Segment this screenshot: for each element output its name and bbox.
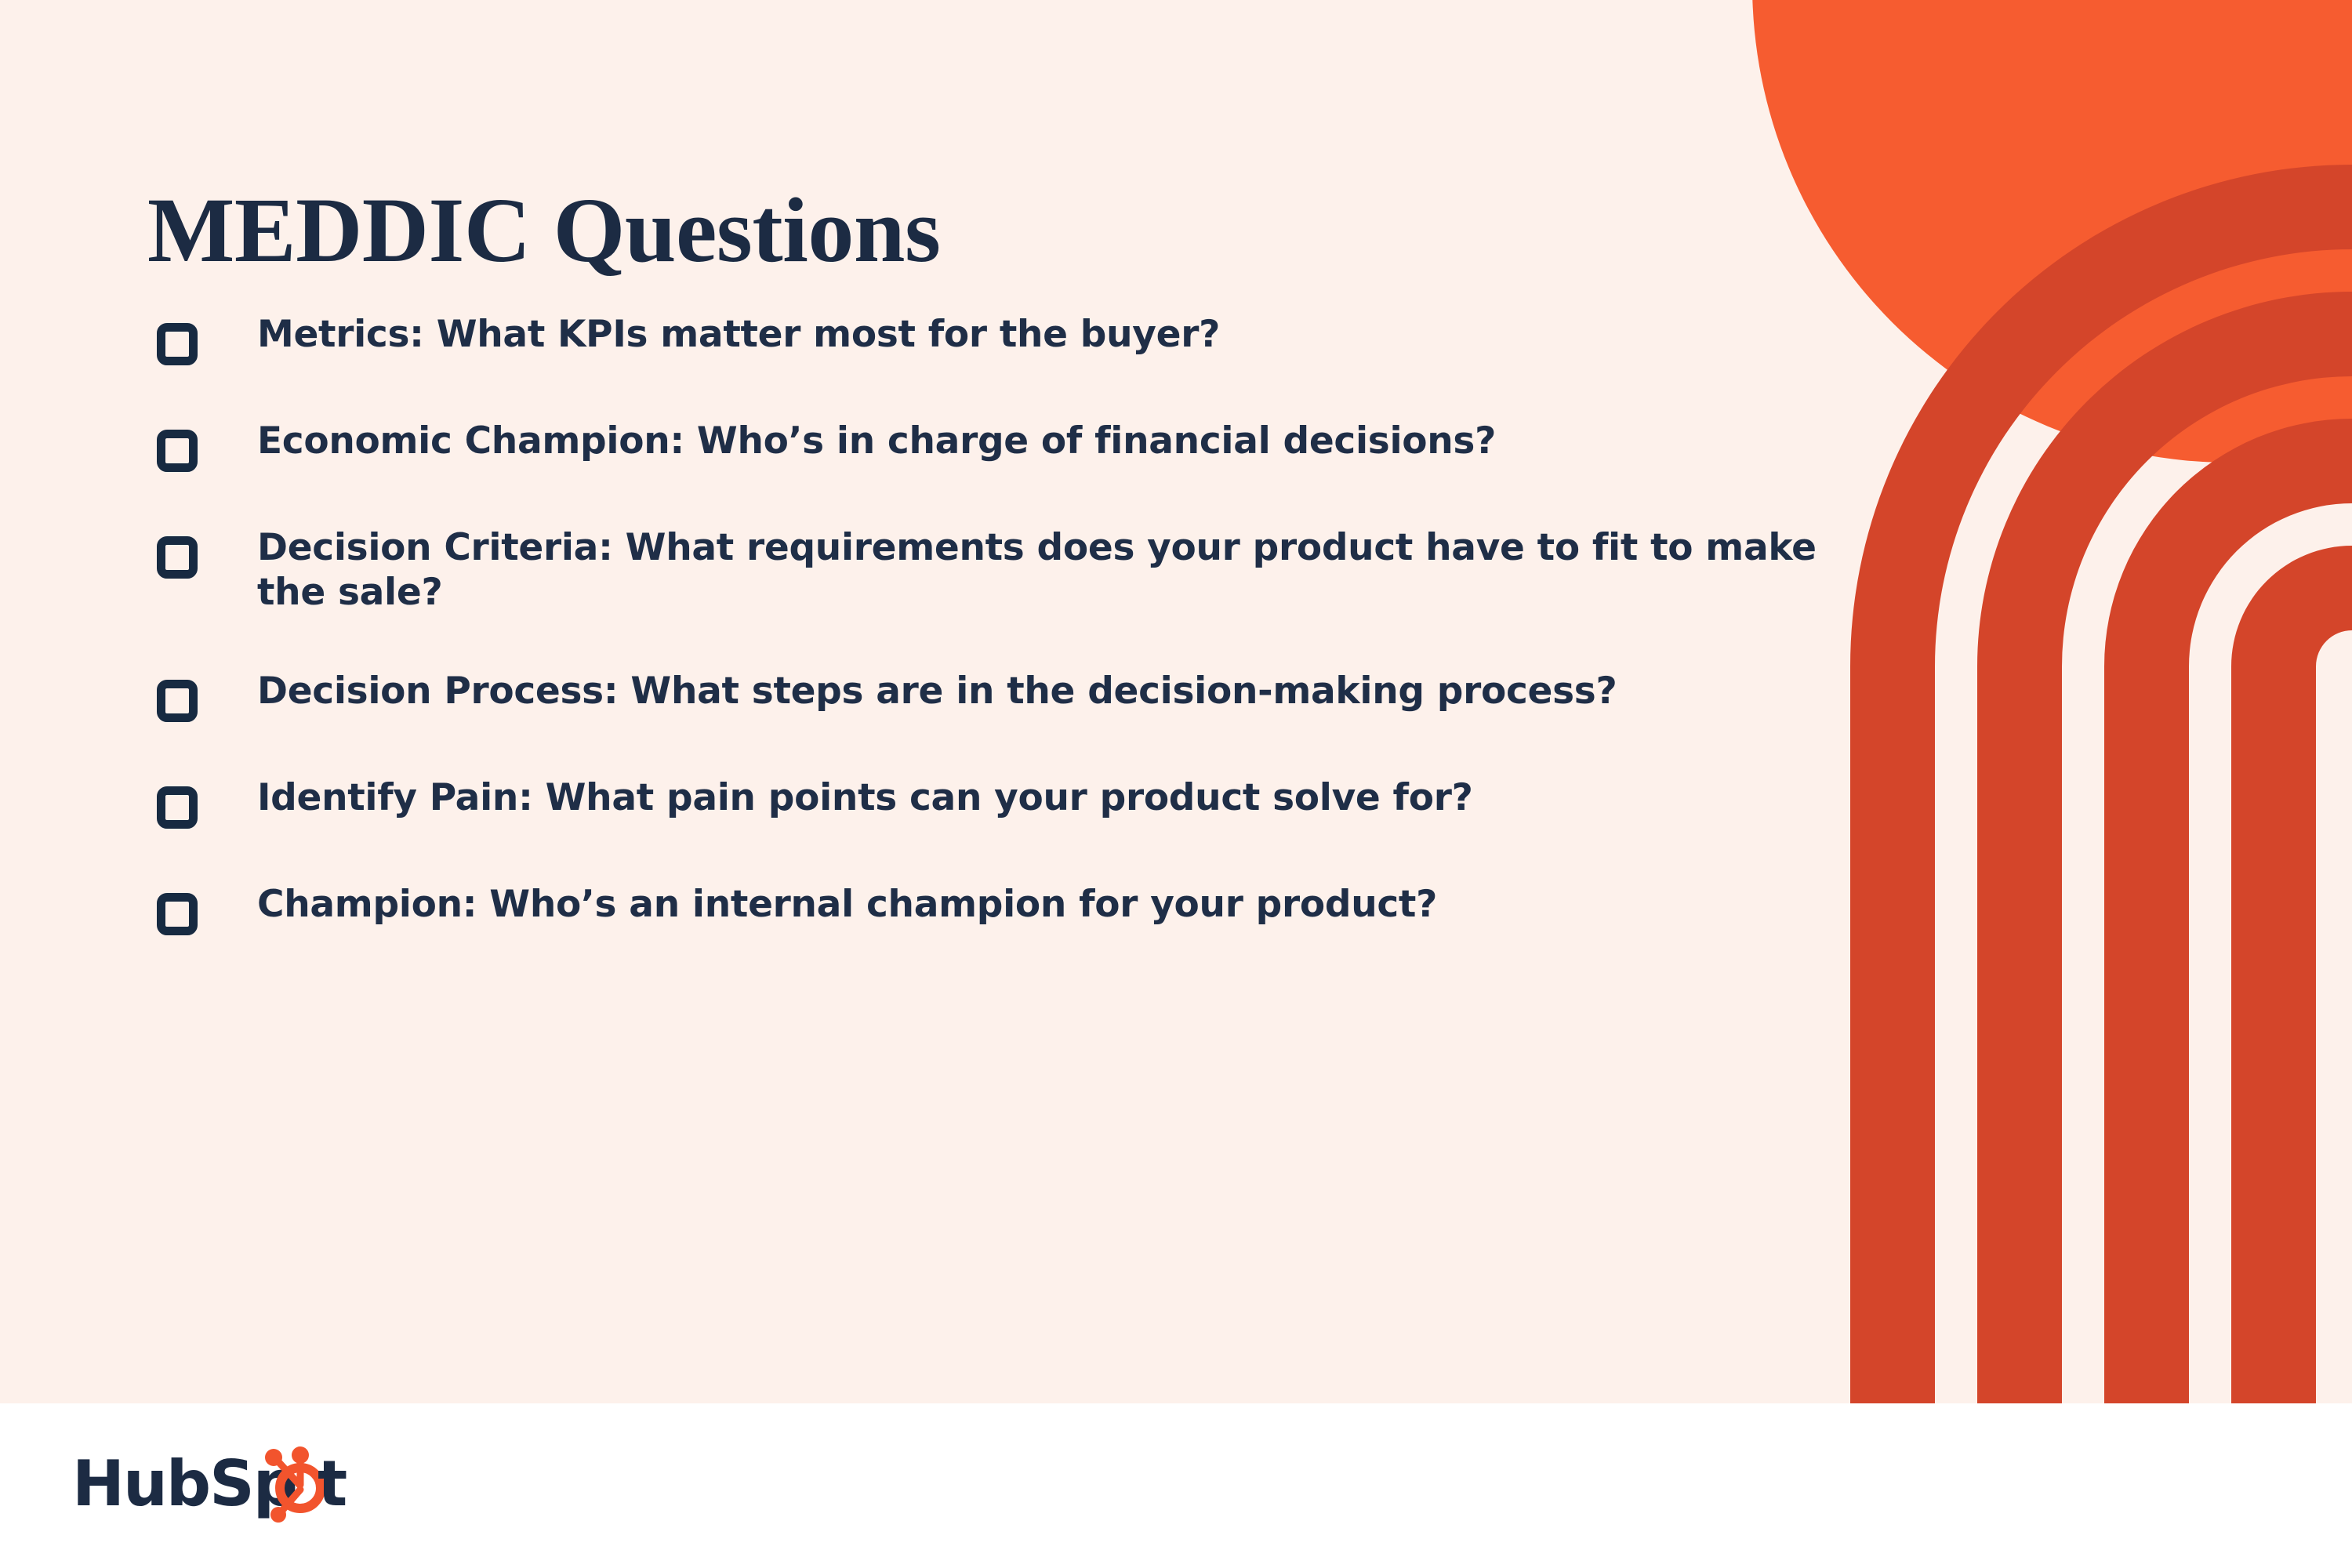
list-item[interactable]: Decision Criteria: What requirements doe… <box>157 525 1850 615</box>
footer-bar: HubSp t <box>0 1403 2352 1568</box>
list-item[interactable]: Champion: Who’s an internal champion for… <box>157 882 1850 935</box>
slide-canvas: MEDDIC Questions Metrics: What KPIs matt… <box>0 0 2352 1568</box>
checkbox-icon[interactable] <box>157 893 198 935</box>
list-item-label: Metrics: What KPIs matter most for the b… <box>257 312 1841 357</box>
checkbox-icon[interactable] <box>157 536 198 579</box>
slide-content: MEDDIC Questions Metrics: What KPIs matt… <box>0 0 2352 1403</box>
hubspot-logo[interactable]: HubSp t <box>72 1444 348 1526</box>
logo-wordmark-after: t <box>318 1447 347 1520</box>
page-title: MEDDIC Questions <box>147 180 940 281</box>
list-item[interactable]: Economic Champion: Who’s in charge of fi… <box>157 419 1850 472</box>
list-item[interactable]: Metrics: What KPIs matter most for the b… <box>157 312 1850 365</box>
logo-wordmark-before: HubSp <box>72 1447 296 1520</box>
checkbox-icon[interactable] <box>157 786 198 829</box>
list-item[interactable]: Identify Pain: What pain points can your… <box>157 775 1850 829</box>
list-item-label: Economic Champion: Who’s in charge of fi… <box>257 419 1841 463</box>
list-item-label: Identify Pain: What pain points can your… <box>257 775 1841 820</box>
checkbox-icon[interactable] <box>157 430 198 472</box>
list-item-label: Decision Process: What steps are in the … <box>257 669 1850 713</box>
list-item-label: Champion: Who’s an internal champion for… <box>257 882 1841 927</box>
list-item-label: Decision Criteria: What requirements doe… <box>257 525 1850 615</box>
checkbox-icon[interactable] <box>157 680 198 722</box>
meddic-checklist: Metrics: What KPIs matter most for the b… <box>157 312 1850 935</box>
checkbox-icon[interactable] <box>157 323 198 365</box>
list-item[interactable]: Decision Process: What steps are in the … <box>157 669 1850 722</box>
